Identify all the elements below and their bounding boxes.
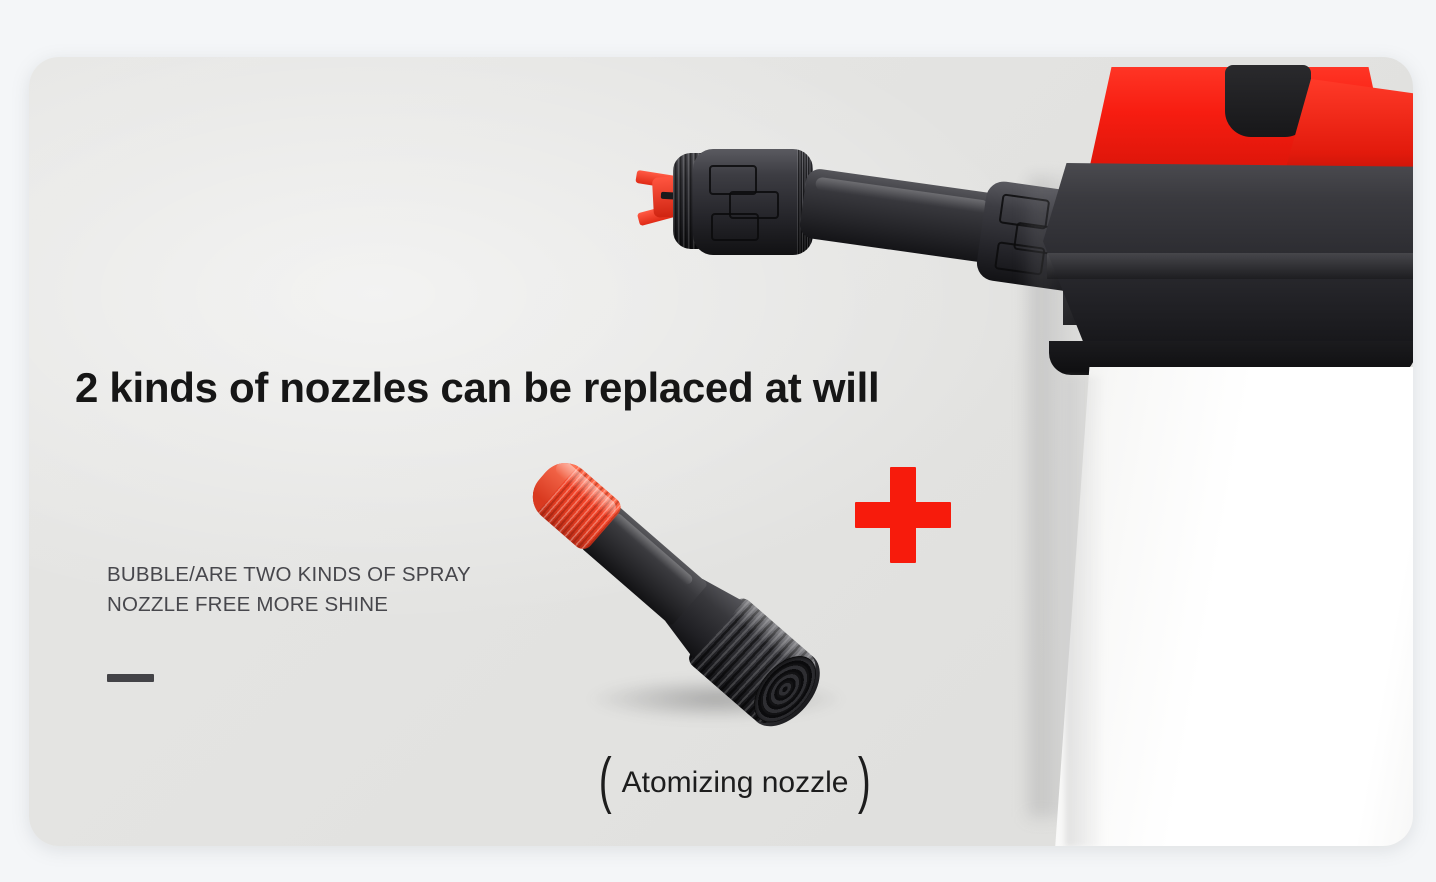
pump-sprayer-image: [1009, 57, 1413, 846]
page-title: 2 kinds of nozzles can be replaced at wi…: [75, 364, 879, 412]
divider: [107, 674, 154, 682]
nozzle-caption: ( Atomizing nozzle ): [595, 766, 875, 800]
bottle-highlight: [1065, 377, 1105, 846]
wand-tube: [798, 167, 1006, 264]
atomizing-nozzle-image: [526, 481, 886, 761]
product-banner-stage: 2 kinds of nozzles can be replaced at wi…: [0, 0, 1436, 882]
sprayer-cap-band: [1047, 253, 1413, 279]
product-card: 2 kinds of nozzles can be replaced at wi…: [29, 57, 1413, 846]
caption-label: Atomizing nozzle: [622, 766, 849, 800]
feature-description: BUBBLE/ARE TWO KINDS OF SPRAY NOZZLE FRE…: [107, 560, 471, 620]
plus-icon: [855, 467, 951, 563]
wand-adjust-knob: [693, 149, 813, 255]
